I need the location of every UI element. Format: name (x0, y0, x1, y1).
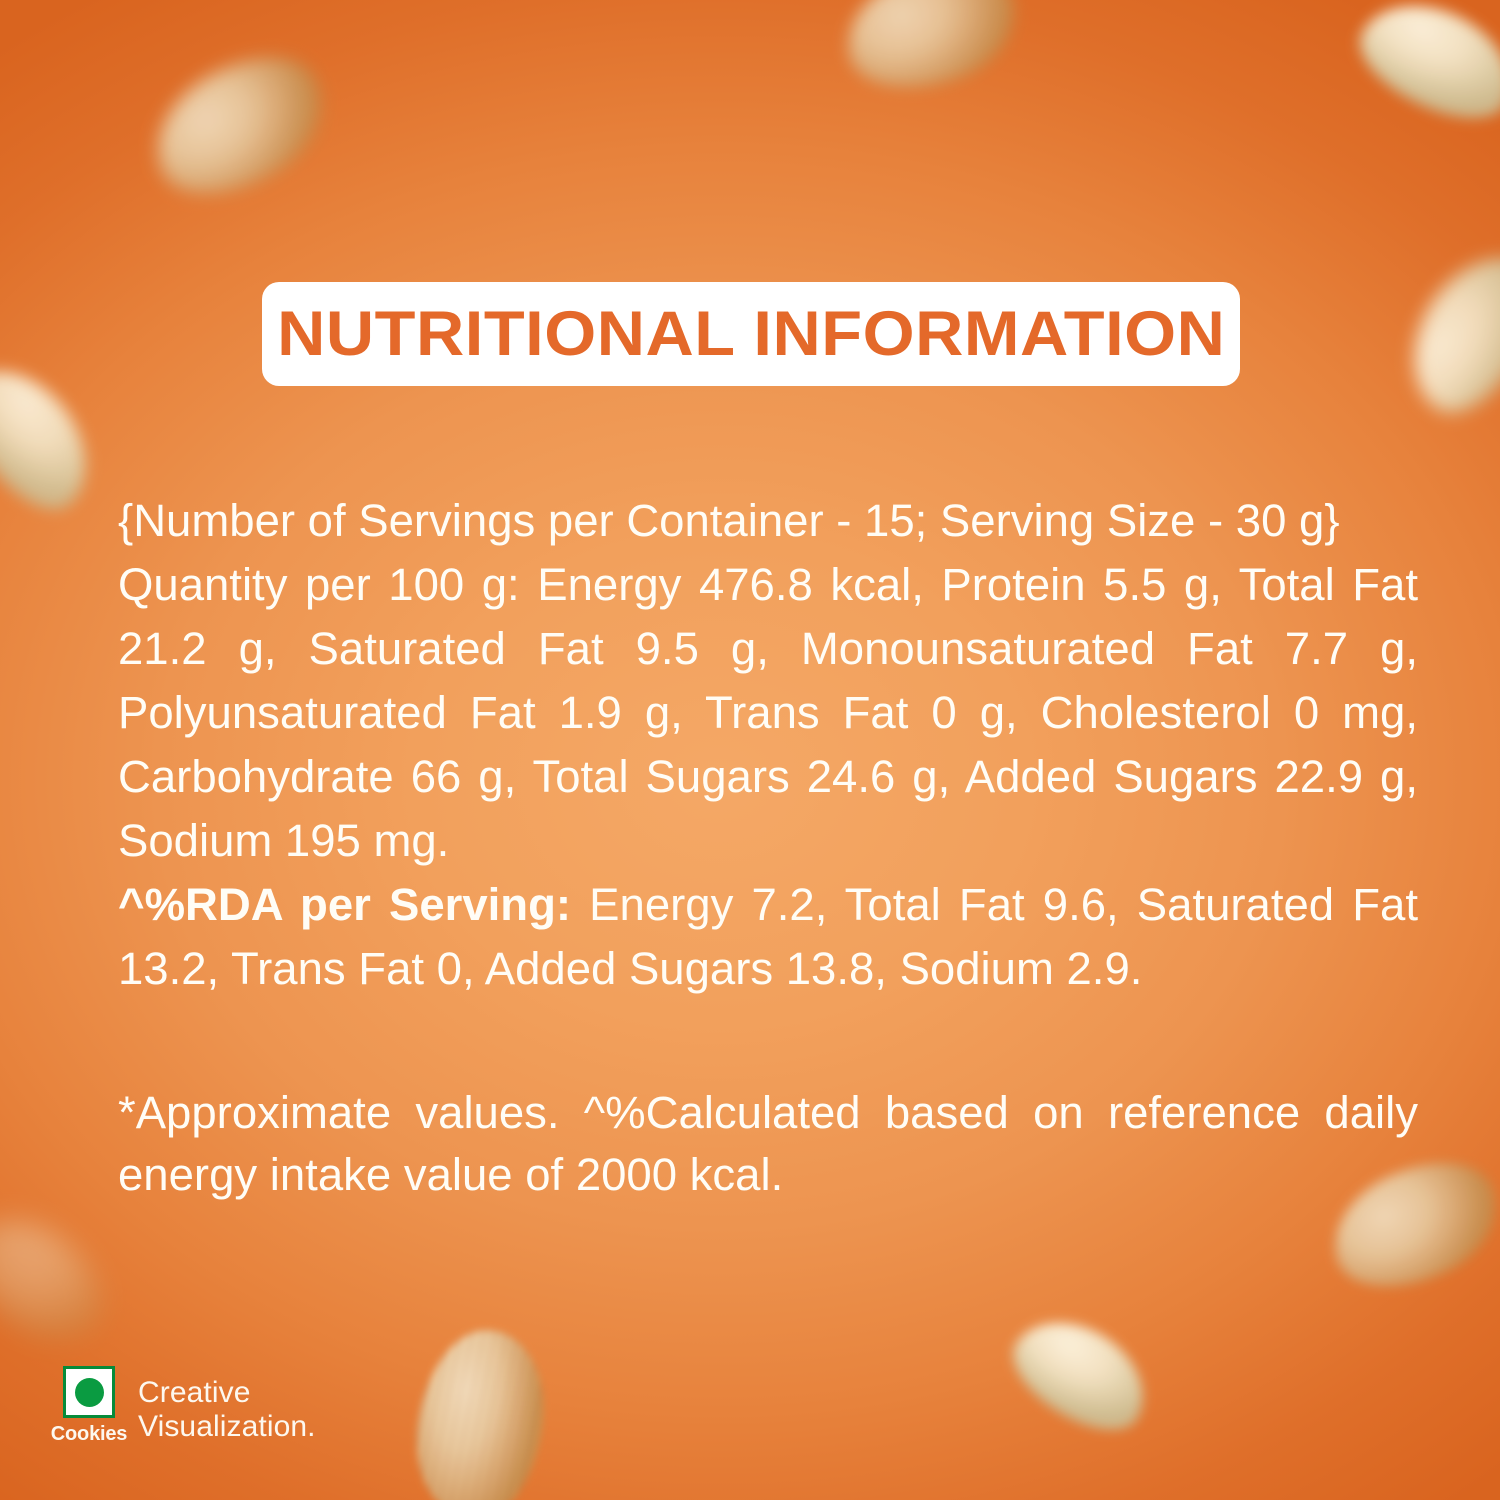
almond-icon (408, 1324, 551, 1500)
serving-info-line: {Number of Servings per Container - 15; … (118, 489, 1418, 553)
almond-icon (833, 0, 1029, 106)
veg-mark-wrap: Cookies (58, 1366, 120, 1446)
nutritional-information-title-plate: NUTRITIONAL INFORMATION (262, 282, 1240, 386)
rda-per-serving-line: ^%RDA per Serving: Energy 7.2, Total Fat… (118, 873, 1418, 1001)
cashew-icon (1345, 0, 1500, 138)
veg-mark-block: Cookies Creative Visualization. (58, 1366, 378, 1446)
almond-icon (133, 33, 345, 219)
almond-icon (0, 1193, 124, 1364)
cashew-icon (1386, 232, 1500, 431)
page-title: NUTRITIONAL INFORMATION (277, 303, 1225, 366)
veg-mark-label: Cookies (51, 1423, 127, 1446)
nutrition-body-copy: {Number of Servings per Container - 15; … (118, 489, 1418, 1001)
quantity-per-100g-line: Quantity per 100 g: Energy 476.8 kcal, P… (118, 553, 1418, 873)
cashew-icon (0, 346, 113, 528)
rda-label: ^%RDA per Serving: (118, 879, 571, 930)
green-veg-dot-icon (63, 1366, 115, 1418)
veg-dot-fill (75, 1378, 104, 1407)
footnote-block: *Approximate values. ^%Calculated based … (118, 1082, 1418, 1206)
creative-visualization-note: Creative Visualization. (138, 1376, 378, 1444)
cashew-icon (997, 1299, 1164, 1449)
product-nutrition-panel: NUTRITIONAL INFORMATION {Number of Servi… (0, 0, 1500, 1500)
footnote-text: *Approximate values. ^%Calculated based … (118, 1082, 1418, 1206)
